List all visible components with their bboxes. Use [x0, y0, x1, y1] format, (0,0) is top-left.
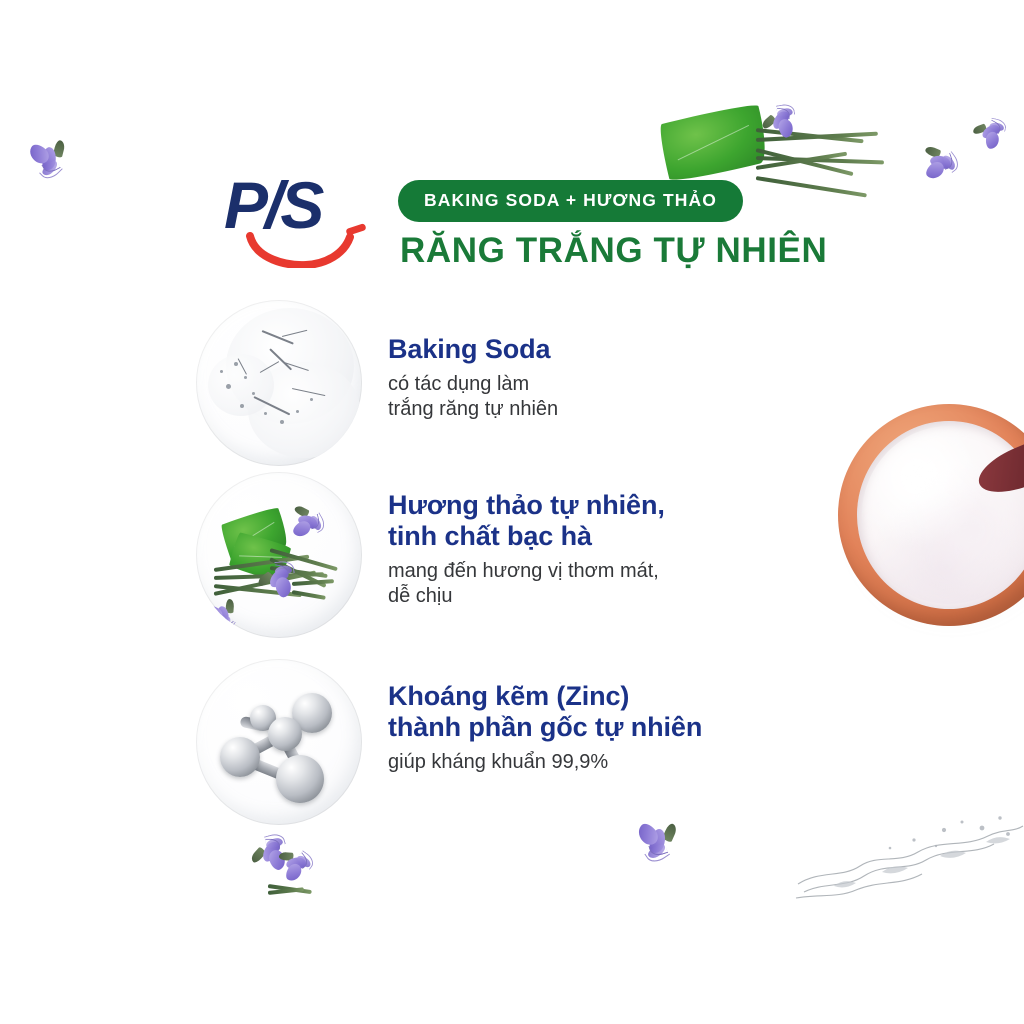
product-infographic: P/S BAKING SODA + HƯƠNG THẢO RĂNG TRẮNG … [0, 0, 1024, 1024]
atom-sphere [268, 717, 302, 751]
product-badge: BAKING SODA + HƯƠNG THẢO [398, 180, 743, 222]
feature-title: Hương thảo tự nhiên, tinh chất bạc hà [388, 490, 665, 552]
baking-soda-powder-icon [196, 300, 362, 466]
header: P/S BAKING SODA + HƯƠNG THẢO RĂNG TRẮNG … [224, 176, 827, 272]
smile-curve-icon [246, 232, 354, 268]
feature-description: giúp kháng khuẩn 99,9% [388, 750, 702, 775]
baking-soda-bowl [838, 404, 1024, 636]
list-item: Khoáng kẽm (Zinc) thành phần gốc tự nhiê… [196, 659, 856, 839]
wooden-spoon-icon [972, 429, 1024, 502]
page-title: RĂNG TRẮNG TỰ NHIÊN [400, 231, 827, 271]
feature-list: Baking Soda có tác dụng làm trắng răng t… [196, 300, 856, 839]
mint-leaf-icon [656, 100, 772, 185]
feature-description: có tác dụng làm trắng răng tự nhiên [388, 372, 558, 422]
rosemary-mint-herb-icon [196, 472, 362, 638]
zinc-molecule-icon [196, 659, 362, 825]
ps-logo: P/S [224, 176, 374, 272]
list-item: Hương thảo tự nhiên, tinh chất bạc hà ma… [196, 472, 856, 659]
atom-sphere [220, 737, 260, 777]
feature-title: Khoáng kẽm (Zinc) thành phần gốc tự nhiê… [388, 681, 702, 743]
feature-title: Baking Soda [388, 334, 558, 365]
atom-sphere [276, 755, 324, 803]
logo-dash-icon [345, 223, 366, 236]
feature-description: mang đến hương vị thơm mát, dễ chịu [388, 559, 665, 609]
list-item: Baking Soda có tác dụng làm trắng răng t… [196, 300, 856, 472]
ps-logo-text: P/S [224, 172, 321, 238]
